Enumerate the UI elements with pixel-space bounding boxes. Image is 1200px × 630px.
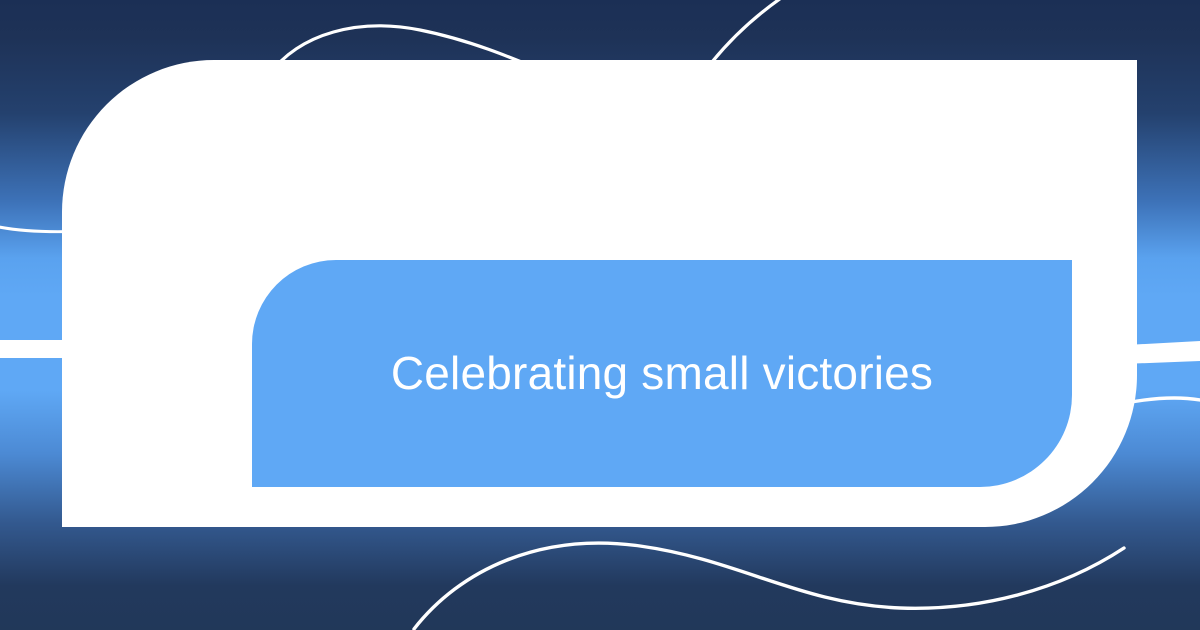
white-rounded-card: Celebrating small victories xyxy=(62,60,1137,527)
graphic-canvas: Celebrating small victories xyxy=(0,0,1200,630)
page-title: Celebrating small victories xyxy=(351,348,973,399)
bottom-s-curve-line xyxy=(414,543,1124,629)
top-right-diagonal-line xyxy=(712,0,784,62)
blue-title-banner: Celebrating small victories xyxy=(252,260,1072,487)
